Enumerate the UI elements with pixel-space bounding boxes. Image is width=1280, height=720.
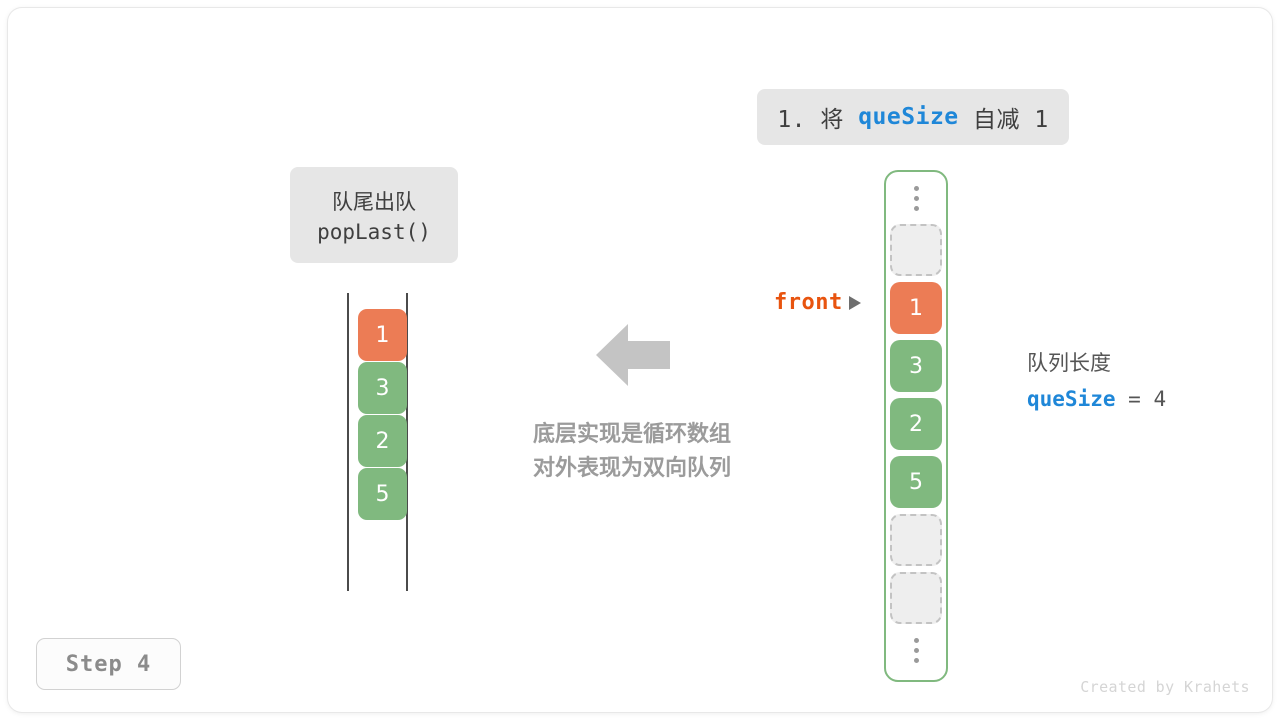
- stack-cell: 2: [358, 415, 407, 467]
- title-prefix: 1. 将: [777, 100, 858, 134]
- note-line-2: 对外表现为双向队列: [502, 452, 762, 486]
- stack-cell-list: 1 3 2 5: [358, 309, 407, 520]
- array-cell-empty: [890, 224, 942, 276]
- quesize-code: queSize: [1027, 387, 1116, 411]
- front-pointer-label: front: [774, 290, 843, 315]
- title-suffix: 自减 1: [959, 100, 1049, 134]
- array-cell-list: 1 3 2 5: [890, 224, 942, 624]
- stack-cell: 3: [358, 362, 407, 414]
- step-badge: Step 4: [36, 638, 181, 690]
- quesize-caption: 队列长度: [1027, 345, 1166, 381]
- quesize-value-row: queSize = 4: [1027, 381, 1166, 417]
- array-cell-front: 1: [890, 282, 942, 334]
- arrow-right-icon: [849, 296, 861, 310]
- credit-text: Created by Krahets: [1080, 678, 1250, 696]
- left-arrow-icon: [596, 322, 670, 392]
- quesize-annotation: 队列长度 queSize = 4: [1027, 345, 1166, 417]
- operation-name-cn: 队尾出队: [332, 186, 416, 216]
- deque-visual-stack: 1 3 2 5: [347, 285, 415, 591]
- stack-rail-left: [347, 293, 349, 591]
- stack-cell: 1: [358, 309, 407, 361]
- array-cell-empty: [890, 572, 942, 624]
- note-line-1: 底层实现是循环数组: [502, 418, 762, 452]
- operation-method-signature: popLast(): [317, 220, 431, 244]
- vertical-ellipsis-icon-top: [914, 172, 919, 224]
- title-code-quesize: queSize: [858, 104, 958, 130]
- array-cell: 5: [890, 456, 942, 508]
- diagram-canvas: 1. 将 queSize 自减 1 队尾出队 popLast() 1 3 2 5…: [8, 8, 1272, 712]
- stack-cell: 5: [358, 468, 407, 520]
- explanatory-note: 底层实现是循环数组 对外表现为双向队列: [502, 418, 762, 486]
- quesize-equals: = 4: [1116, 387, 1167, 411]
- array-cell: 2: [890, 398, 942, 450]
- step-title-chip: 1. 将 queSize 自减 1: [757, 89, 1069, 145]
- front-pointer: front: [774, 290, 861, 315]
- array-cell: 3: [890, 340, 942, 392]
- operation-label-box: 队尾出队 popLast(): [290, 167, 458, 263]
- circular-array: 1 3 2 5: [884, 170, 948, 682]
- vertical-ellipsis-icon-bottom: [914, 624, 919, 676]
- array-cell-empty: [890, 514, 942, 566]
